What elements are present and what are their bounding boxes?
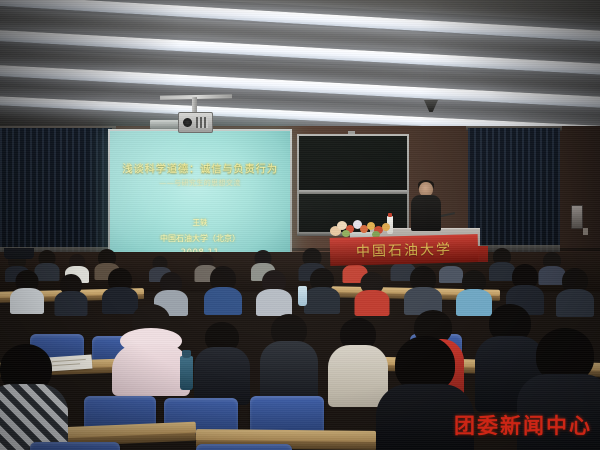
standing-person-left [4,248,34,258]
stage-banner-text: 中国石油大学 [356,239,452,262]
audience-person-foreground [0,344,64,450]
ceiling-beam [0,27,600,82]
audience-person [406,266,440,308]
ceiling-light-strip [0,0,600,46]
projector-lens-icon [183,118,192,127]
audience-person [330,318,386,404]
lecture-seat [196,444,292,450]
audience-person [206,266,240,308]
slide-title: 浅谈科学道德：诚信与负责行为 [122,161,277,176]
audience-person [306,268,338,308]
projection-screen-frame: 浅谈科学道德：诚信与负责行为 ——与研究生的思想交流 王轶 中国石油大学（北京）… [108,129,292,260]
audience-person [356,272,388,310]
audience-person [262,314,316,402]
dome-light-icon [424,100,438,112]
curtain-left [0,128,112,256]
ceiling-projector [178,112,213,133]
flower-leaf [342,230,350,237]
projector-vent [196,117,208,128]
blackboard-panel-top [299,136,407,190]
seated-speaker [411,182,441,230]
slide-organization: 中国石油大学（北京） [160,233,240,244]
wall-control-panel[interactable] [571,205,583,229]
stage-banner: 中国石油大学 [330,234,479,266]
slide-author: 王轶 [193,217,208,228]
lecture-seat [250,396,324,432]
ceiling-light-strip [0,64,600,112]
lecture-seat [30,442,120,450]
projection-screen: 浅谈科学道德：诚信与负责行为 ——与研究生的思想交流 王轶 中国石油大学（北京）… [110,131,290,258]
audience-person-pink-coat [112,304,190,390]
speaker-body [411,195,441,231]
audience-person [558,268,592,310]
ceiling-light-strip [0,28,600,78]
audience-person [258,270,290,310]
audience-person [104,268,136,308]
water-bottle-cap [182,350,191,358]
audience-person [196,322,248,402]
audience-person [508,264,542,308]
water-bottle [298,286,307,306]
audience-person [56,274,86,310]
water-bottle [180,356,193,390]
watermark: 团委新闻中心 [454,410,592,440]
ceiling-beam [0,0,600,44]
flower-petal [382,223,390,231]
audience-person [12,270,42,308]
ceiling [0,0,600,132]
curtain-right [468,128,560,256]
lecture-hall-photo: 浅谈科学道德：诚信与负责行为 ——与研究生的思想交流 王轶 中国石油大学（北京）… [0,0,600,450]
wall-plate [583,228,588,235]
slide-subtitle: ——与研究生的思想交流 [159,178,240,188]
ceiling-beam [0,66,600,118]
